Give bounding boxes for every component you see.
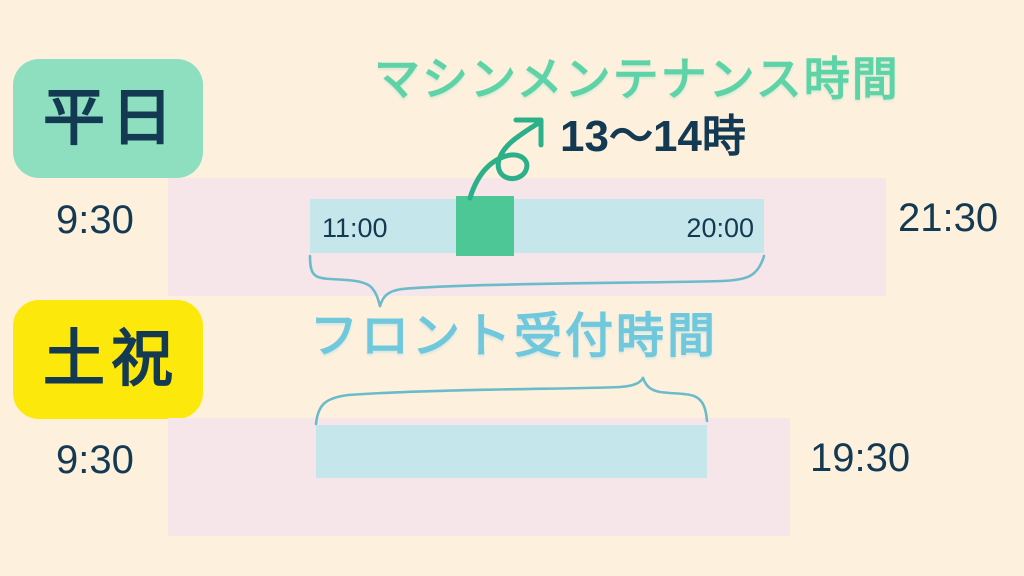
front-desk-title: フロント受付時間 xyxy=(310,313,718,361)
badge-weekday: 平日 xyxy=(13,59,203,178)
arrow-head-right-icon xyxy=(736,418,790,536)
maintenance-block xyxy=(456,196,514,256)
weekend-close-time: 19:30 xyxy=(810,438,910,478)
badge-weekend: 土祝 xyxy=(13,300,203,419)
weekday-open-time: 9:30 xyxy=(56,200,134,240)
weekday-front-end-label: 20:00 xyxy=(686,215,754,242)
arrow-head-right-icon xyxy=(832,178,886,296)
arrow-head-left-icon xyxy=(168,418,222,536)
weekday-front-start-label: 11:00 xyxy=(322,215,388,242)
infographic-canvas: 平日 9:30 11:00 20:00 21:30 土祝 9:30 19:30 … xyxy=(0,0,1024,576)
arrow-head-left-icon xyxy=(168,178,222,296)
weekday-front-desk-bar: 11:00 20:00 xyxy=(310,199,764,253)
maintenance-title: マシンメンテナンス時間 xyxy=(374,56,900,102)
weekend-open-time: 9:30 xyxy=(56,440,134,480)
weekend-front-desk-bar xyxy=(316,425,707,478)
weekday-close-time: 21:30 xyxy=(898,198,998,238)
maintenance-time: 13〜14時 xyxy=(560,115,746,159)
